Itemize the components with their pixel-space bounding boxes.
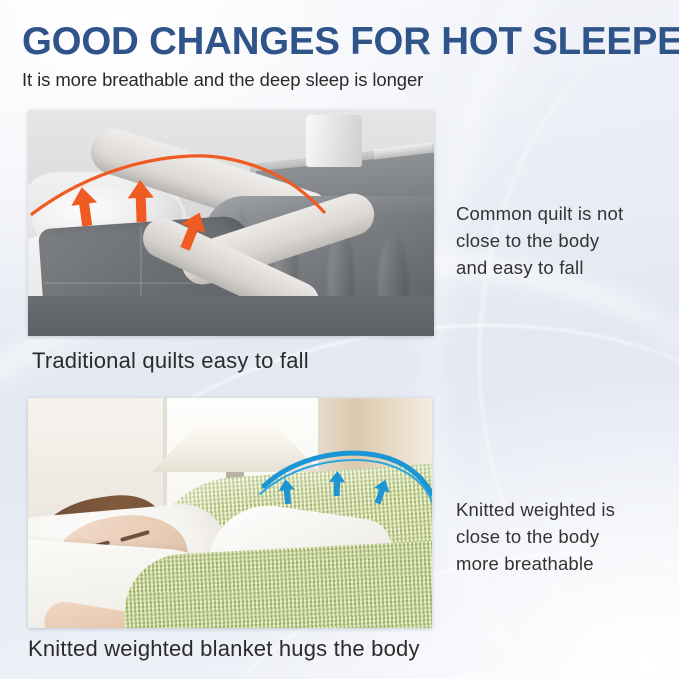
photo-knitted-blanket bbox=[28, 398, 432, 628]
page-subtitle: It is more breathable and the deep sleep… bbox=[22, 69, 667, 91]
photo-traditional-quilt bbox=[28, 110, 434, 336]
caption-traditional-quilt: Traditional quilts easy to fall bbox=[32, 348, 309, 374]
callout-knitted-blanket: Knitted weighted is close to the body mo… bbox=[456, 496, 671, 578]
infographic-page: GOOD CHANGES FOR HOT SLEEPER It is more … bbox=[0, 0, 679, 679]
photo-panel-traditional-quilt bbox=[28, 110, 434, 336]
photo-panel-knitted-blanket bbox=[28, 398, 432, 628]
callout-traditional-quilt: Common quilt is not close to the body an… bbox=[456, 200, 671, 282]
caption-knitted-blanket: Knitted weighted blanket hugs the body bbox=[28, 636, 420, 662]
photo-grayscale-veil bbox=[28, 110, 434, 336]
page-title: GOOD CHANGES FOR HOT SLEEPER bbox=[22, 22, 657, 63]
header: GOOD CHANGES FOR HOT SLEEPER It is more … bbox=[22, 22, 667, 91]
